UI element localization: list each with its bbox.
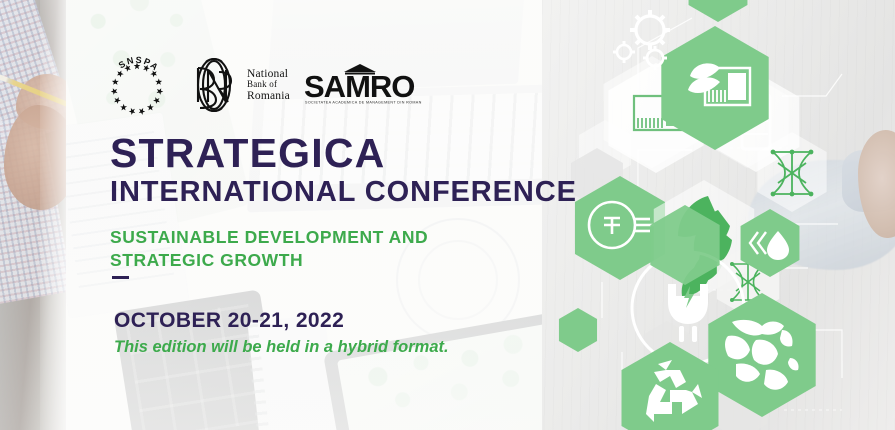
conference-banner: SNSPA (0, 0, 895, 430)
hexagon-green-small-left (559, 308, 597, 352)
theme-line-2: STRATEGIC GROWTH (110, 249, 428, 272)
hand-with-pencil-photo (0, 0, 66, 430)
bnr-line-2: Bank of (247, 80, 290, 90)
page-subtitle: INTERNATIONAL CONFERENCE (110, 178, 577, 207)
snspa-arc-text: SNSPA (117, 55, 161, 73)
bnr-line-3: Romania (247, 90, 290, 102)
svg-text:SNSPA: SNSPA (117, 55, 161, 73)
event-format-note: This edition will be held in a hybrid fo… (114, 339, 449, 356)
samro-text: SAMRO (304, 69, 414, 104)
svg-text:SAMRO: SAMRO (304, 69, 414, 104)
divider-rule (112, 276, 129, 279)
bnr-monogram-icon (186, 56, 242, 114)
page-title: STRATEGICA (110, 133, 385, 174)
hexagon-cluster (542, 0, 895, 430)
partner-logos: SNSPA (102, 52, 422, 118)
svg-text:SOCIETATEA ACADEMICA DE MANAGE: SOCIETATEA ACADEMICA DE MANAGEMENT DIN R… (305, 101, 422, 105)
samro-wordmark-icon: SAMRO SOCIETATEA ACADEMICA DE MANAGEMENT… (304, 63, 422, 107)
circle-of-stars-icon: SNSPA (102, 53, 172, 117)
samro-logo: SAMRO SOCIETATEA ACADEMICA DE MANAGEMENT… (304, 63, 422, 107)
hexagon-green-top (689, 0, 748, 22)
snspa-logo: SNSPA (102, 53, 172, 117)
theme-line-1: SUSTAINABLE DEVELOPMENT AND (110, 226, 428, 249)
theme-text: SUSTAINABLE DEVELOPMENT AND STRATEGIC GR… (110, 226, 428, 272)
photo-fade-overlay (40, 0, 66, 430)
recycle-icon (622, 342, 719, 430)
samro-subtitle: SOCIETATEA ACADEMICA DE MANAGEMENT DIN R… (305, 101, 422, 105)
event-date: OCTOBER 20-21, 2022 (114, 310, 344, 331)
bnr-wordmark: National Bank of Romania (247, 68, 290, 102)
hexagon-graphics-panel (542, 0, 895, 430)
gears-icon (613, 10, 670, 70)
bnr-logo: National Bank of Romania (186, 55, 290, 115)
